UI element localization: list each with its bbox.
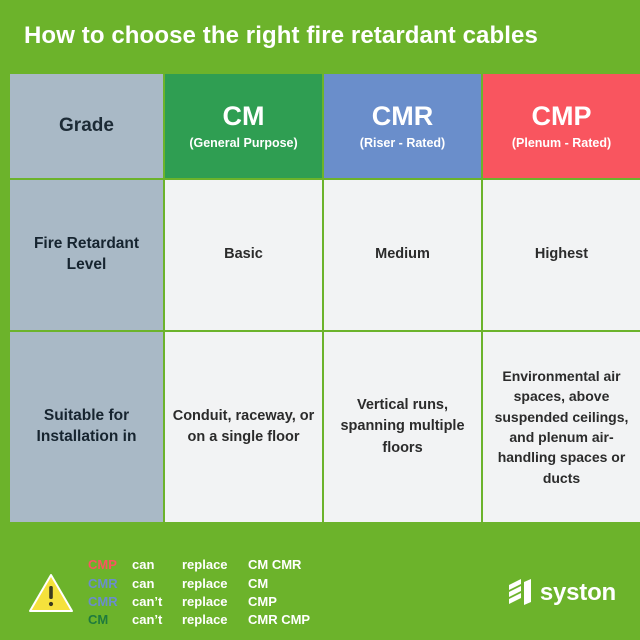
- warning-triangle-icon: [18, 573, 84, 613]
- rule-targets: CMR CMP: [248, 611, 426, 629]
- brand-name: syston: [540, 579, 616, 607]
- rule-code: CMR: [88, 593, 132, 611]
- row-label-fire-retardant-level: Fire Retardant Level: [10, 180, 163, 330]
- replacement-rules-list: CMP can replace CM CMR CMR can replace C…: [84, 556, 426, 630]
- column-header-cmr: CMR (Riser - Rated): [324, 74, 481, 178]
- rule-targets: CM: [248, 575, 426, 593]
- rule-code: CMR: [88, 575, 132, 593]
- rule-code: CM: [88, 611, 132, 629]
- rule-verb: replace: [182, 556, 248, 574]
- cell-install-cmp: Environmental air spaces, above suspende…: [483, 332, 640, 522]
- column-code-cmp: CMP: [489, 102, 634, 130]
- cell-fire-cmp: Highest: [483, 180, 640, 330]
- rule-row: CMR can’t replace CMP: [88, 593, 426, 611]
- column-code-cm: CM: [171, 102, 316, 130]
- table-corner-label: Grade: [10, 74, 163, 178]
- rule-modal: can’t: [132, 611, 182, 629]
- rule-verb: replace: [182, 611, 248, 629]
- brand-logo: syston: [426, 578, 622, 608]
- comparison-table-wrap: Grade CM (General Purpose) CMR (Riser - …: [0, 72, 640, 546]
- table-header-row: Grade CM (General Purpose) CMR (Riser - …: [10, 74, 640, 178]
- rule-code: CMP: [88, 556, 132, 574]
- rule-modal: can’t: [132, 593, 182, 611]
- rule-row: CM can’t replace CMR CMP: [88, 611, 426, 629]
- column-subtitle-cmp: (Plenum - Rated): [489, 136, 634, 150]
- column-header-cmp: CMP (Plenum - Rated): [483, 74, 640, 178]
- column-header-cm: CM (General Purpose): [165, 74, 322, 178]
- comparison-table: Grade CM (General Purpose) CMR (Riser - …: [8, 72, 640, 524]
- syston-logo-icon: [507, 578, 533, 608]
- rule-row: CMR can replace CM: [88, 575, 426, 593]
- cell-install-cm: Conduit, raceway, or on a single floor: [165, 332, 322, 522]
- table-row: Fire Retardant Level Basic Medium Highes…: [10, 180, 640, 330]
- infographic-root: How to choose the right fire retardant c…: [0, 0, 640, 640]
- rule-verb: replace: [182, 575, 248, 593]
- row-label-suitable-for-installation: Suitable for Installation in: [10, 332, 163, 522]
- cell-install-cmr: Vertical runs, spanning multiple floors: [324, 332, 481, 522]
- page-title: How to choose the right fire retardant c…: [24, 22, 538, 50]
- rule-verb: replace: [182, 593, 248, 611]
- rule-modal: can: [132, 575, 182, 593]
- table-row: Suitable for Installation in Conduit, ra…: [10, 332, 640, 522]
- column-code-cmr: CMR: [330, 102, 475, 130]
- cell-fire-cmr: Medium: [324, 180, 481, 330]
- footer: CMP can replace CM CMR CMR can replace C…: [0, 546, 640, 640]
- column-subtitle-cmr: (Riser - Rated): [330, 136, 475, 150]
- cell-fire-cm: Basic: [165, 180, 322, 330]
- rule-row: CMP can replace CM CMR: [88, 556, 426, 574]
- rule-targets: CMP: [248, 593, 426, 611]
- column-subtitle-cm: (General Purpose): [171, 136, 316, 150]
- header: How to choose the right fire retardant c…: [0, 0, 640, 72]
- rule-targets: CM CMR: [248, 556, 426, 574]
- rule-modal: can: [132, 556, 182, 574]
